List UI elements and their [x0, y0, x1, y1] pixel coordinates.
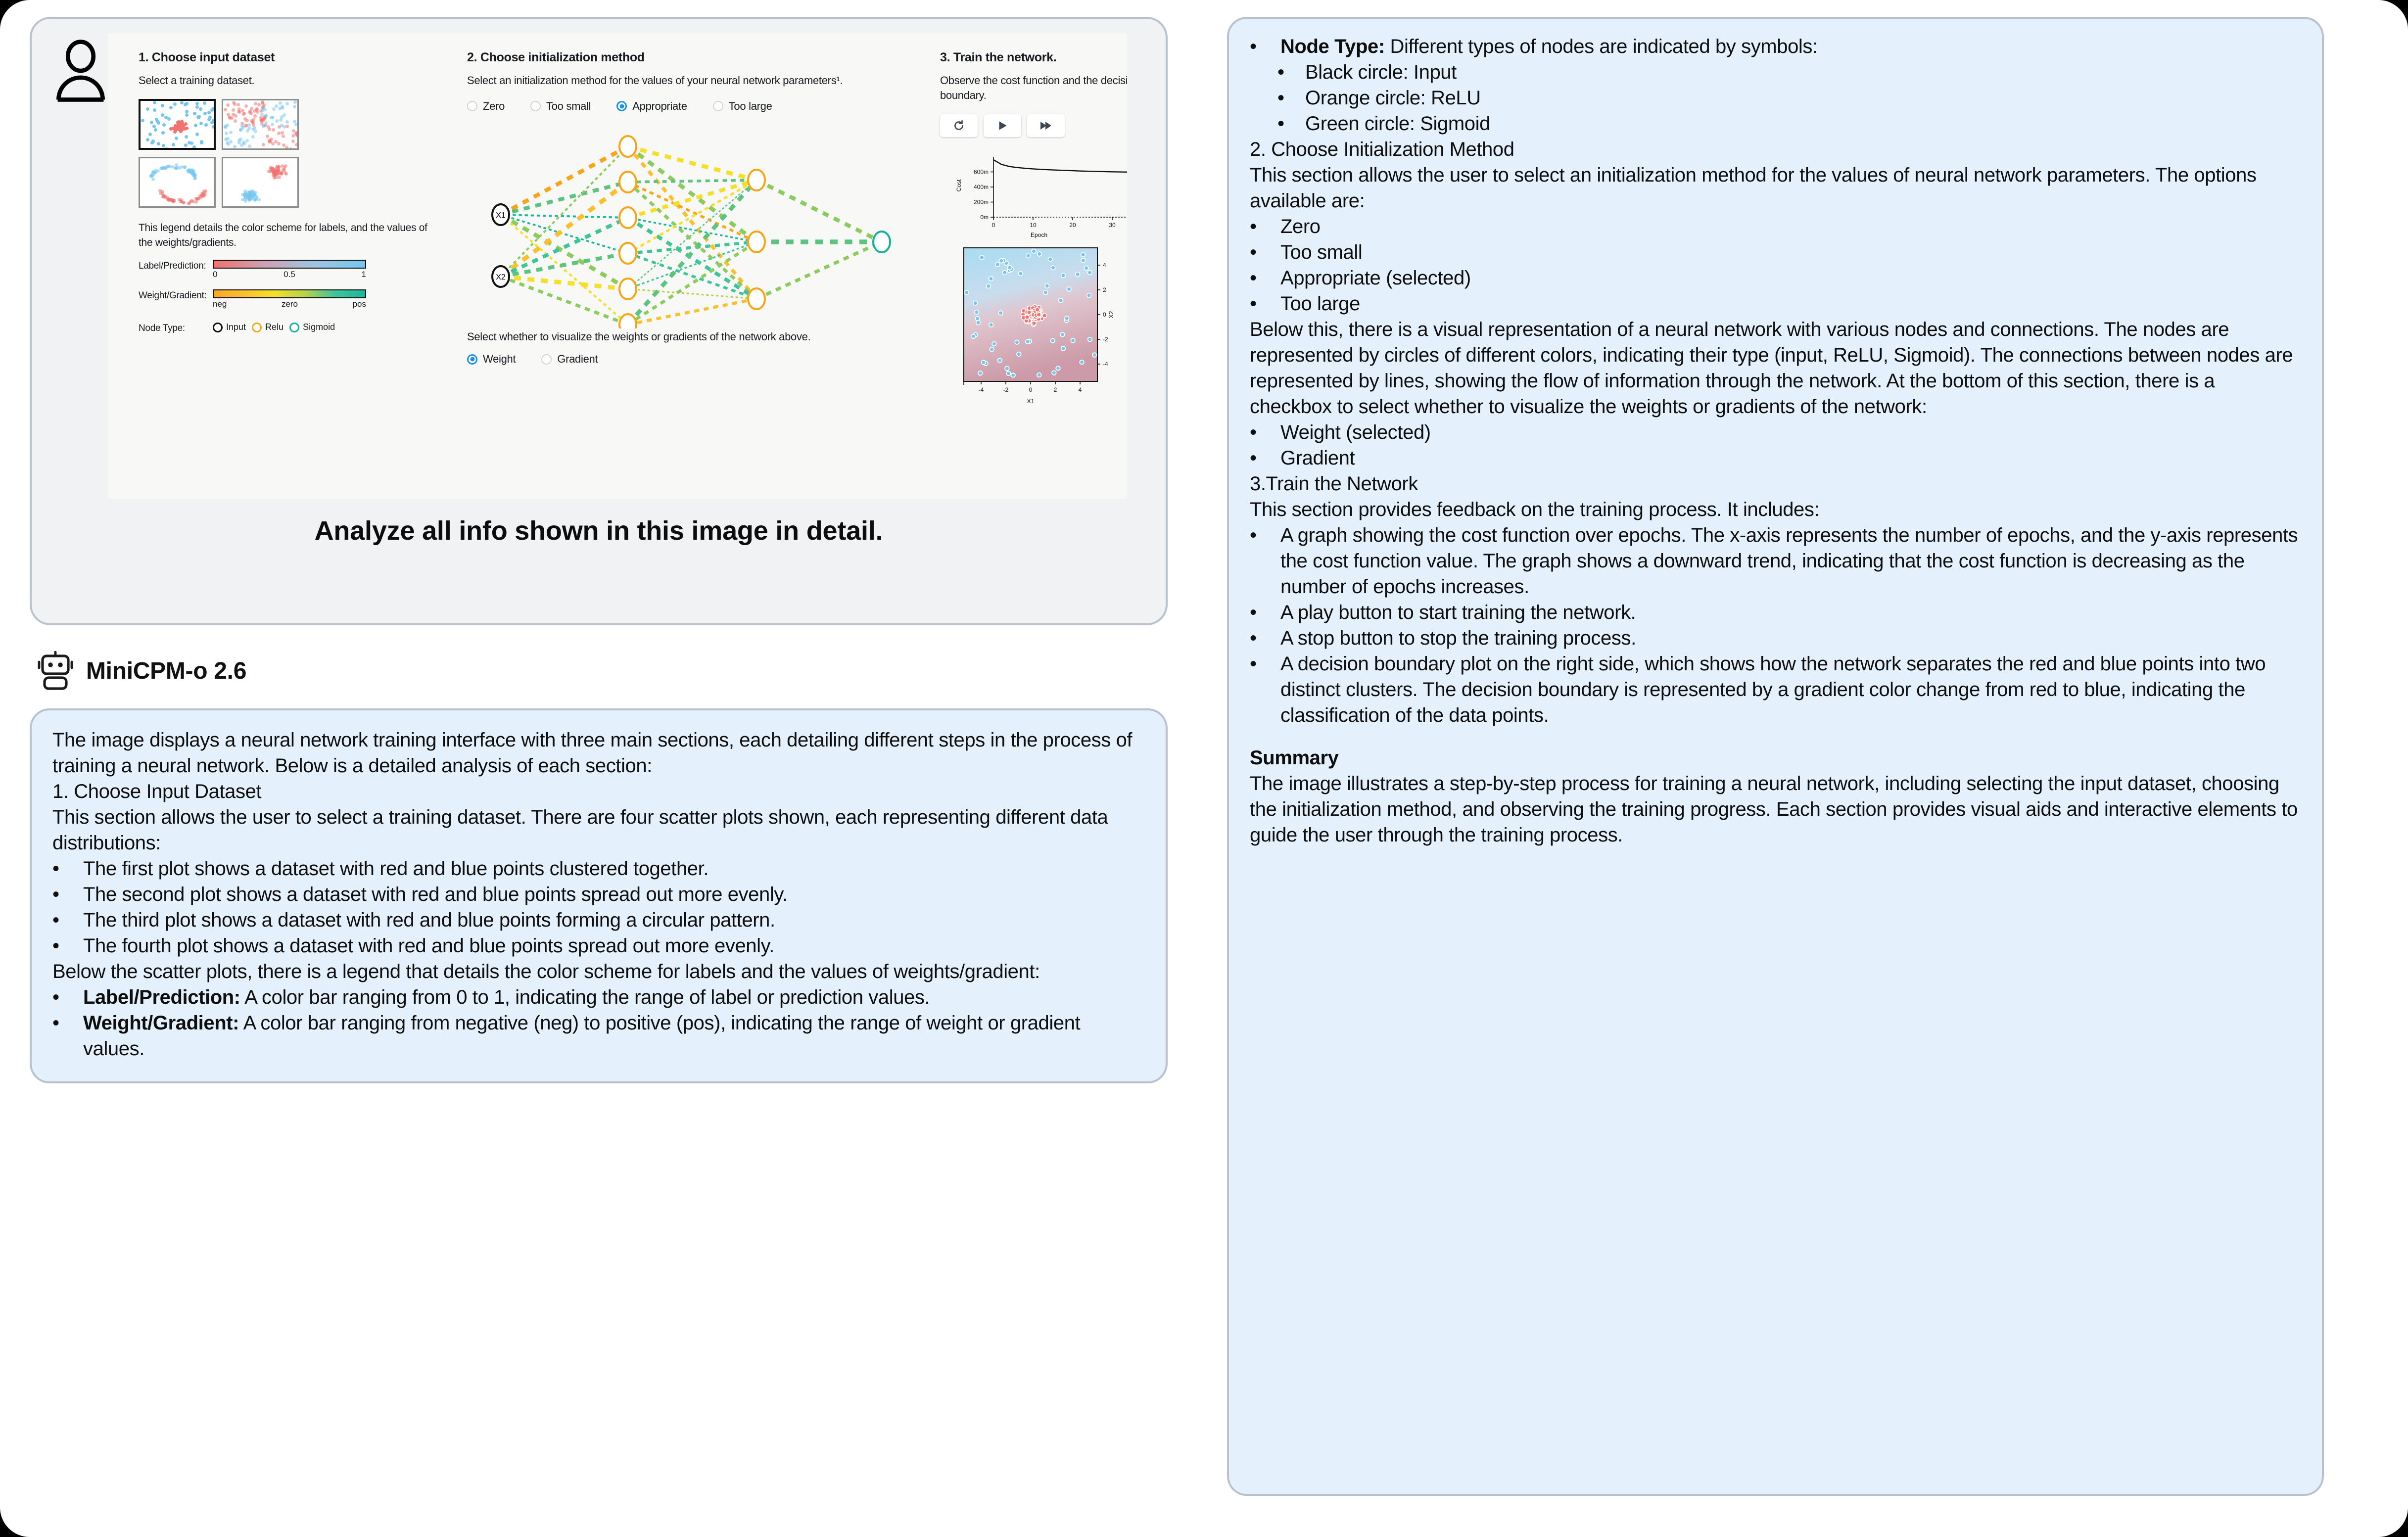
two-column-layout: 1. Choose input dataset Select a trainin…: [0, 0, 2408, 1537]
svg-text:X1: X1: [1027, 398, 1035, 405]
bullet-icon: •: [1250, 651, 1280, 728]
lp-tick-2: 1: [362, 270, 366, 279]
list-item-text: Too small: [1280, 239, 1362, 265]
init-option-appropriate-label: Appropriate: [632, 100, 687, 113]
list-item: •The third plot shows a dataset with red…: [52, 907, 1145, 933]
training-controls: [940, 114, 1127, 137]
list-item: •Too small: [1250, 239, 2299, 265]
cost-chart: 0m200m400m600m0102030EpochCost: [940, 150, 1127, 239]
list-item-text: The fourth plot shows a dataset with red…: [83, 933, 774, 959]
init-option-too-large[interactable]: Too large: [713, 100, 772, 113]
dataset-thumbnail-grid: [139, 99, 435, 208]
list-item: •Too large: [1250, 291, 2299, 317]
weight-gradient-ticks: neg zero pos: [213, 299, 366, 309]
assistant-header: MiniCPM-o 2.6: [38, 651, 1168, 691]
list-item-text: Node Type: Different types of nodes are …: [1280, 34, 1818, 59]
bullet-icon: •: [52, 1010, 83, 1062]
list-item: •Node Type: Different types of nodes are…: [1250, 34, 2299, 59]
bullet-icon: •: [1250, 625, 1280, 651]
list-item: •Label/Prediction: A color bar ranging f…: [52, 984, 1145, 1010]
dataset-thumbnail-2[interactable]: [222, 99, 299, 150]
list-item: •Zero: [1250, 214, 2299, 239]
bullet-icon: •: [1250, 214, 1280, 239]
node-type-sigmoid-label: Sigmoid: [303, 322, 335, 332]
list-item: •Green circle: Sigmoid: [1277, 111, 2299, 137]
dataset-thumbnail-1[interactable]: [139, 99, 216, 150]
attached-screenshot-image: 1. Choose input dataset Select a trainin…: [108, 34, 1127, 499]
play-icon: [996, 119, 1009, 132]
list-item-text: A stop button to stop the training proce…: [1280, 625, 1636, 651]
list-item-rest: A color bar ranging from 0 to 1, indicat…: [240, 986, 930, 1008]
list-item-text: Green circle: Sigmoid: [1305, 111, 1490, 137]
init-option-too-small-label: Too small: [546, 100, 591, 113]
list-item-text: Label/Prediction: A color bar ranging fr…: [83, 984, 930, 1010]
section3-subtitle: Observe the cost function and the decisi…: [940, 73, 1127, 102]
svg-text:200m: 200m: [974, 199, 989, 206]
response-paragraph-intro: The image displays a neural network trai…: [52, 727, 1145, 779]
radio-zero-icon[interactable]: [467, 101, 477, 111]
weight-gradient-label: Weight/Gradient:: [139, 289, 213, 301]
response-heading-3: 3.Train the Network: [1250, 471, 2299, 497]
init-option-zero-label: Zero: [483, 100, 505, 113]
svg-text:-4: -4: [979, 386, 984, 393]
summary-text: The image illustrates a step-by-step pro…: [1250, 771, 2299, 848]
lp-tick-0: 0: [213, 270, 217, 279]
list-item-bold: Label/Prediction:: [83, 986, 240, 1008]
svg-text:10: 10: [1030, 222, 1037, 229]
svg-text:4: 4: [1103, 262, 1106, 269]
node-type-legend: Node Type: Input Relu: [139, 322, 435, 334]
svg-text:X1: X1: [496, 211, 506, 220]
bullet-icon: •: [52, 984, 83, 1010]
response-bubble-right: •Node Type: Different types of nodes are…: [1227, 17, 2324, 1496]
response-heading-1: 1. Choose Input Dataset: [52, 779, 1145, 804]
radio-appropriate-icon[interactable]: [616, 101, 627, 111]
list-item: •Appropriate (selected): [1250, 265, 2299, 291]
bullet-icon: •: [1250, 445, 1280, 471]
decision-boundary-chart: -4-2024-4-2024X1X2: [940, 242, 1127, 405]
list-item-text: Zero: [1280, 214, 1321, 239]
radio-too-small-icon[interactable]: [530, 101, 541, 111]
svg-text:0: 0: [1103, 311, 1106, 318]
response-bubble-left: The image displays a neural network trai…: [30, 708, 1168, 1083]
list-item: •Weight/Gradient: A color bar ranging fr…: [52, 1010, 1145, 1062]
viz-option-weight[interactable]: Weight: [467, 353, 516, 366]
list-item: •The first plot shows a dataset with red…: [52, 856, 1145, 882]
right-column: •Node Type: Different types of nodes are…: [1197, 0, 2408, 1537]
bullet-icon: •: [52, 933, 83, 959]
screenshot-page: 1. Choose input dataset Select a trainin…: [0, 0, 2408, 1537]
bullet-icon: •: [1277, 111, 1305, 137]
list-item: •A graph showing the cost function over …: [1250, 522, 2299, 600]
bullet-icon: •: [1277, 59, 1305, 85]
svg-text:X2: X2: [1108, 311, 1115, 319]
section2-subtitle: Select an initialization method for the …: [467, 73, 912, 88]
fast-forward-icon: [1039, 119, 1053, 132]
list-item-text: The second plot shows a dataset with red…: [83, 882, 788, 907]
node-type-input: Input: [213, 322, 246, 332]
label-prediction-label: Label/Prediction:: [139, 260, 213, 272]
response-paragraph-init: This section allows the user to select a…: [1250, 162, 2299, 214]
svg-text:400m: 400m: [974, 184, 989, 190]
list-item-text: Gradient: [1280, 445, 1355, 471]
svg-text:Cost: Cost: [955, 179, 962, 191]
svg-text:-2: -2: [1103, 336, 1108, 343]
play-button[interactable]: [984, 114, 1021, 137]
svg-text:2: 2: [1103, 286, 1106, 293]
node-type-input-label: Input: [226, 322, 246, 332]
list-item-text: A decision boundary plot on the right si…: [1280, 651, 2299, 728]
list-item: •Gradient: [1250, 445, 2299, 471]
list-item: •Orange circle: ReLU: [1277, 85, 2299, 111]
svg-text:0m: 0m: [980, 214, 989, 221]
radio-too-large-icon[interactable]: [713, 101, 723, 111]
bullet-icon: •: [52, 882, 83, 907]
wg-tick-pos: pos: [353, 299, 366, 309]
init-option-too-small[interactable]: Too small: [530, 100, 591, 113]
visualize-radio-group: Weight Gradient: [467, 353, 912, 366]
section2-title: 2. Choose initialization method: [467, 50, 912, 65]
init-option-zero[interactable]: Zero: [467, 100, 505, 113]
list-item-bold: Weight/Gradient:: [83, 1012, 239, 1034]
list-item-rest: Different types of nodes are indicated b…: [1385, 36, 1818, 57]
init-option-appropriate[interactable]: Appropriate: [616, 100, 687, 113]
sigmoid-node-icon: [289, 323, 299, 332]
legend-note: This legend details the color scheme for…: [139, 221, 435, 250]
list-item-text: Black circle: Input: [1305, 59, 1457, 85]
weight-gradient-legend: Weight/Gradient: neg zero pos: [139, 289, 435, 309]
svg-text:-4: -4: [1103, 361, 1108, 368]
response-paragraph-network: Below this, there is a visual representa…: [1250, 317, 2299, 419]
visualize-note: Select whether to visualize the weights …: [467, 329, 912, 344]
user-prompt-text: Analyze all info shown in this image in …: [48, 515, 1149, 546]
list-item: •Weight (selected): [1250, 419, 2299, 445]
list-item-text: Too large: [1280, 291, 1360, 317]
left-column: 1. Choose input dataset Select a trainin…: [0, 0, 1197, 1537]
dataset-thumbnail-3[interactable]: [139, 157, 216, 208]
section1-title: 1. Choose input dataset: [139, 50, 435, 65]
list-item: •The second plot shows a dataset with re…: [52, 882, 1145, 907]
svg-text:600m: 600m: [974, 169, 989, 176]
response-paragraph-legend: Below the scatter plots, there is a lege…: [52, 959, 1145, 984]
svg-text:4: 4: [1079, 386, 1082, 393]
label-prediction-legend: Label/Prediction: 0 0.5 1: [139, 260, 435, 279]
list-item-bold: Node Type:: [1280, 36, 1385, 57]
bullet-icon: •: [1250, 265, 1280, 291]
bullet-icon: •: [1250, 239, 1280, 265]
list-item-text: The first plot shows a dataset with red …: [83, 856, 708, 882]
list-item: •A decision boundary plot on the right s…: [1250, 651, 2299, 728]
node-type-label: Node Type:: [139, 322, 213, 334]
init-method-radio-group: Zero Too small Appropriate Too large: [467, 100, 912, 113]
section2-footer: Select whether to visualize the weights …: [467, 329, 912, 366]
wg-tick-zero: zero: [282, 299, 298, 309]
bullet-icon: •: [52, 856, 83, 882]
input-node-icon: [213, 323, 223, 332]
svg-text:0: 0: [1029, 386, 1033, 393]
user-prompt-card: 1. Choose input dataset Select a trainin…: [30, 17, 1168, 625]
list-item: •Black circle: Input: [1277, 59, 2299, 85]
assistant-model-name: MiniCPM-o 2.6: [86, 657, 246, 685]
svg-text:-2: -2: [1003, 386, 1009, 393]
svg-text:X2: X2: [496, 273, 506, 281]
shot-section-3: 3. Train the network. Observe the cost f…: [940, 50, 1127, 405]
list-item-text: A play button to start training the netw…: [1280, 600, 1636, 625]
list-item-text: The third plot shows a dataset with red …: [83, 907, 775, 933]
node-type-relu-label: Relu: [265, 322, 283, 332]
response-paragraph-train: This section provides feedback on the tr…: [1250, 497, 2299, 522]
list-item-text: Weight (selected): [1280, 419, 1431, 445]
user-avatar-icon: [53, 39, 108, 103]
shot-section-2: 2. Choose initialization method Select a…: [467, 50, 912, 366]
response-paragraph-dataset: This section allows the user to select a…: [52, 804, 1145, 856]
reset-button[interactable]: [940, 114, 978, 137]
fast-forward-button[interactable]: [1027, 114, 1065, 137]
radio-gradient-icon[interactable]: [541, 354, 552, 365]
bullet-icon: •: [1250, 600, 1280, 625]
viz-option-gradient-label: Gradient: [557, 353, 598, 366]
bullet-icon: •: [1250, 419, 1280, 445]
svg-text:0: 0: [992, 222, 995, 229]
list-item: •The fourth plot shows a dataset with re…: [52, 933, 1145, 959]
svg-text:20: 20: [1069, 222, 1076, 229]
section3-title: 3. Train the network.: [940, 50, 1127, 65]
radio-weight-icon[interactable]: [467, 354, 477, 365]
reset-icon: [952, 119, 965, 132]
weight-gradient-colorbar: [213, 289, 366, 298]
list-item-text: Appropriate (selected): [1280, 265, 1471, 291]
lp-tick-1: 0.5: [283, 270, 295, 279]
svg-text:30: 30: [1109, 222, 1116, 229]
section1-subtitle: Select a training dataset.: [139, 73, 435, 88]
response-heading-2: 2. Choose Initialization Method: [1250, 137, 2299, 162]
bullet-icon: •: [52, 907, 83, 933]
list-item-text: A graph showing the cost function over e…: [1280, 522, 2299, 600]
robot-avatar-icon: [38, 651, 73, 691]
wg-tick-neg: neg: [213, 299, 227, 309]
node-type-sigmoid: Sigmoid: [289, 322, 335, 332]
bullet-icon: •: [1250, 34, 1280, 59]
svg-text:Epoch: Epoch: [1031, 232, 1047, 238]
viz-option-gradient[interactable]: Gradient: [541, 353, 598, 366]
node-type-relu: Relu: [252, 322, 283, 332]
shot-section-1: 1. Choose input dataset Select a trainin…: [139, 50, 435, 334]
init-option-too-large-label: Too large: [729, 100, 772, 113]
label-prediction-ticks: 0 0.5 1: [213, 270, 366, 279]
summary-heading: Summary: [1250, 745, 2299, 771]
label-prediction-colorbar: [213, 260, 366, 269]
neural-network-diagram: X1X2: [467, 116, 902, 328]
dataset-thumbnail-4[interactable]: [222, 157, 299, 208]
viz-option-weight-label: Weight: [483, 353, 516, 366]
list-item: •A stop button to stop the training proc…: [1250, 625, 2299, 651]
bullet-icon: •: [1250, 291, 1280, 317]
relu-node-icon: [252, 323, 262, 332]
bullet-icon: •: [1277, 85, 1305, 111]
bullet-icon: •: [1250, 522, 1280, 600]
list-item: •A play button to start training the net…: [1250, 600, 2299, 625]
list-item-text: Orange circle: ReLU: [1305, 85, 1481, 111]
svg-text:2: 2: [1054, 386, 1057, 393]
list-item-text: Weight/Gradient: A color bar ranging fro…: [83, 1010, 1145, 1062]
